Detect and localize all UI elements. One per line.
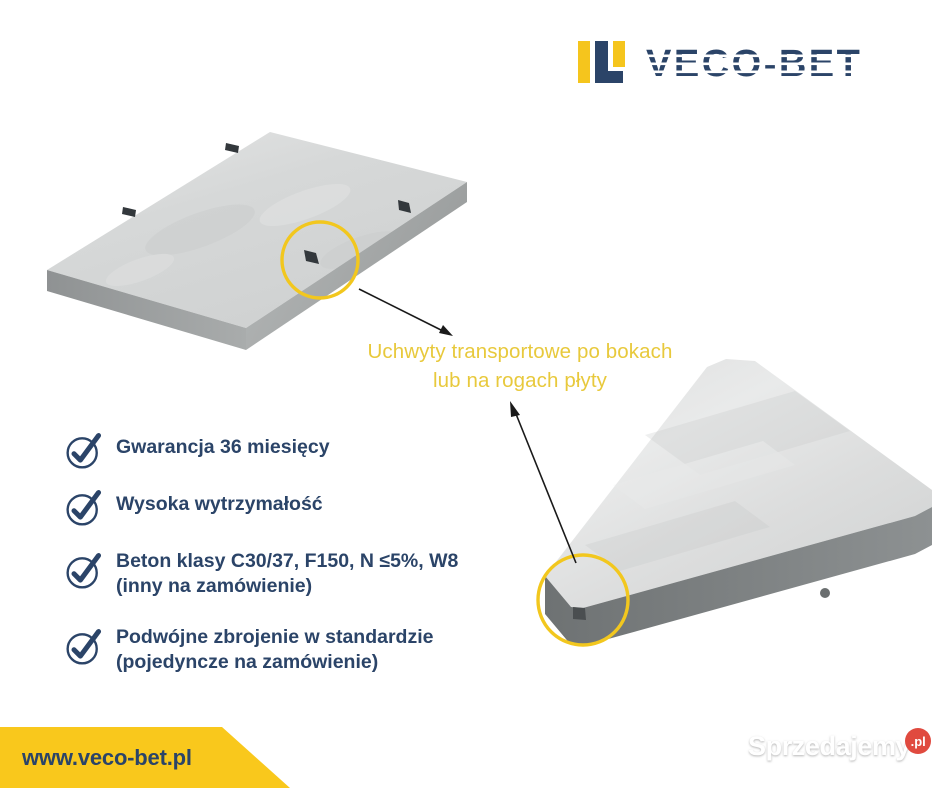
feature-list: Gwarancja 36 miesięcy Wysoka wytrzymałoś… [64, 430, 504, 695]
check-circle-icon [64, 627, 104, 667]
feature-label: Gwarancja 36 miesięcy [116, 430, 330, 460]
feature-label: Beton klasy C30/37, F150, N ≤5%, W8 (inn… [116, 544, 458, 600]
feature-item: Wysoka wytrzymałość [64, 487, 504, 528]
watermark-text: Sprzedajemy [748, 731, 910, 762]
svg-text:VECO-BET: VECO-BET [646, 43, 862, 82]
callout-arrow-top [355, 283, 465, 343]
brand-logo: VECO-BET [578, 38, 884, 86]
feature-label: Wysoka wytrzymałość [116, 487, 323, 517]
callout-arrow-bottom [500, 395, 600, 575]
check-circle-icon [64, 551, 104, 591]
check-circle-icon [64, 488, 104, 528]
veco-bet-logo-mark-icon [578, 38, 630, 86]
watermark: Sprzedajemy .pl [748, 731, 931, 762]
feature-item: Beton klasy C30/37, F150, N ≤5%, W8 (inn… [64, 544, 504, 600]
promo-graphic-page: VECO-BET [0, 0, 940, 788]
feature-label: Podwójne zbrojenie w standardzie (pojedy… [116, 620, 433, 676]
veco-bet-wordmark: VECO-BET [646, 42, 884, 82]
feature-item: Podwójne zbrojenie w standardzie (pojedy… [64, 620, 504, 676]
watermark-badge: .pl [905, 728, 931, 754]
footer-website-url[interactable]: www.veco-bet.pl [22, 745, 192, 771]
check-circle-icon [64, 431, 104, 471]
feature-item: Gwarancja 36 miesięcy [64, 430, 504, 471]
callout-text: Uchwyty transportowe po bokach lub na ro… [345, 337, 695, 395]
